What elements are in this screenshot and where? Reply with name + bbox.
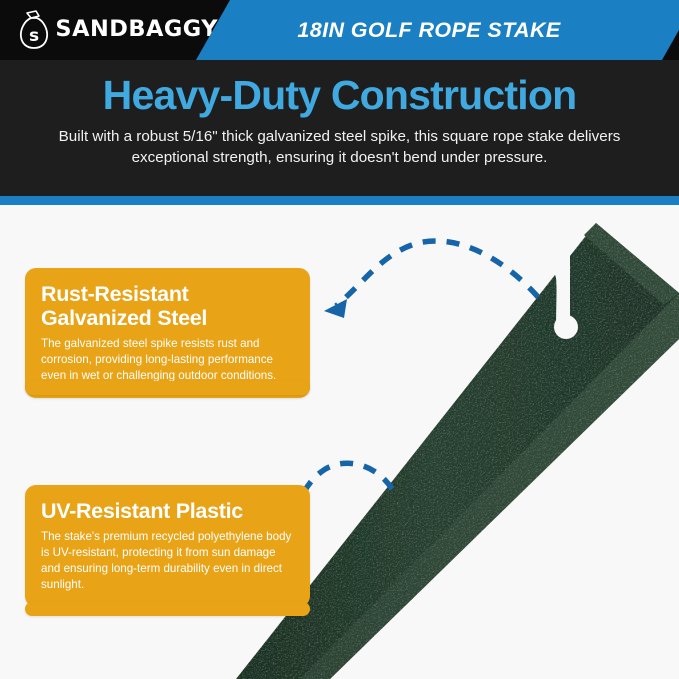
feature-card-plastic[interactable]: UV-Resistant Plastic The stake's premium… <box>25 485 310 607</box>
brand-logo: s SANDBAGGY <box>16 10 216 50</box>
header-divider-bar <box>0 196 679 205</box>
hero-subtext: Built with a robust 5/16" thick galvaniz… <box>0 117 679 169</box>
feature-title: UV-Resistant Plastic <box>41 499 294 523</box>
brand-name: SANDBAGGY <box>55 19 218 41</box>
feature-accent-bar-plastic <box>25 602 310 616</box>
infographic-page: s SANDBAGGY 18IN GOLF ROPE STAKE Heavy-D… <box>0 0 679 679</box>
rope-hole <box>554 315 578 339</box>
arrowhead <box>324 299 347 318</box>
callout-arrow-steel <box>324 241 538 318</box>
product-title-banner: 18IN GOLF ROPE STAKE <box>196 0 679 60</box>
feature-accent-bar-steel <box>25 381 310 395</box>
feature-card-steel[interactable]: Rust-Resistant Galvanized Steel The galv… <box>25 268 310 398</box>
feature-description: The galvanized steel spike resists rust … <box>41 336 294 384</box>
page-header: s SANDBAGGY 18IN GOLF ROPE STAKE <box>0 0 679 60</box>
feature-title: Rust-Resistant Galvanized Steel <box>41 282 294 330</box>
feature-description: The stake's premium recycled polyethylen… <box>41 529 294 593</box>
product-title: 18IN GOLF ROPE STAKE <box>196 0 662 60</box>
hero-section: Heavy-Duty Construction Built with a rob… <box>0 60 679 196</box>
svg-text:s: s <box>29 26 39 46</box>
hero-headline: Heavy-Duty Construction <box>0 60 679 117</box>
content-area: Rust-Resistant Galvanized Steel The galv… <box>0 205 679 679</box>
sandbag-icon: s <box>16 10 52 50</box>
